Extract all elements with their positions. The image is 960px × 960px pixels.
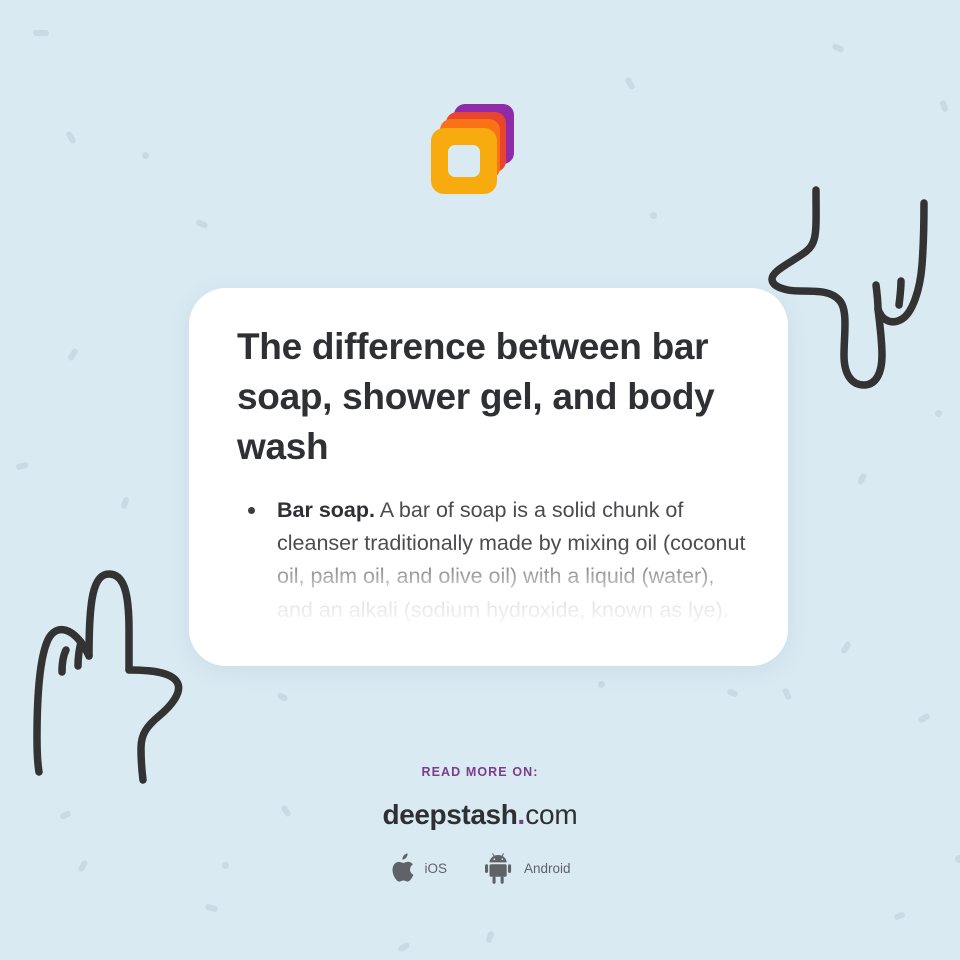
confetti-speck: [650, 212, 657, 219]
hand-pointing-up-icon: [25, 560, 205, 785]
brand-name: deepstash: [383, 799, 518, 830]
android-label: Android: [524, 861, 571, 876]
ios-badge[interactable]: iOS: [389, 853, 447, 884]
list-item: Bar soap. A bar of soap is a solid chunk…: [237, 494, 754, 661]
confetti-speck: [840, 640, 852, 654]
confetti-speck: [782, 687, 793, 700]
confetti-speck: [276, 692, 289, 703]
confetti-speck: [857, 472, 868, 485]
confetti-speck: [485, 930, 494, 943]
card-inner: The difference between bar soap, shower …: [189, 288, 788, 660]
confetti-speck: [120, 496, 130, 509]
idea-bullet-list: Bar soap. A bar of soap is a solid chunk…: [237, 494, 754, 661]
confetti-speck: [142, 152, 149, 159]
content-card: The difference between bar soap, shower …: [189, 288, 788, 666]
bullet-dot-icon: [248, 507, 255, 514]
android-icon: [485, 853, 515, 884]
brand-tld: com: [525, 799, 577, 830]
confetti-speck: [15, 462, 28, 471]
ios-label: iOS: [424, 861, 447, 876]
confetti-speck: [726, 688, 738, 698]
bullet-lead-text: Bar soap.: [277, 498, 375, 522]
confetti-speck: [831, 43, 844, 54]
app-store-badges: iOS Android: [0, 853, 960, 884]
confetti-speck: [598, 681, 605, 688]
confetti-speck: [624, 76, 636, 90]
footer: READ MORE ON: deepstash.com iOS: [0, 765, 960, 884]
page-title: The difference between bar soap, shower …: [237, 322, 754, 472]
confetti-speck: [67, 347, 79, 361]
bullet-paragraph: Bar soap. A bar of soap is a solid chunk…: [277, 494, 754, 661]
confetti-speck: [893, 911, 905, 920]
confetti-speck: [935, 410, 942, 417]
brand-wordmark: deepstash.com: [0, 799, 960, 831]
deepstash-logo: [431, 104, 515, 198]
confetti-speck: [917, 713, 930, 724]
android-badge[interactable]: Android: [485, 853, 571, 884]
confetti-speck: [397, 941, 410, 952]
confetti-speck: [65, 130, 77, 144]
confetti-speck: [195, 219, 208, 230]
read-more-label: READ MORE ON:: [0, 765, 960, 779]
confetti-speck: [939, 99, 949, 112]
logo-layer-amber: [431, 128, 497, 194]
confetti-speck: [33, 30, 49, 37]
confetti-speck: [204, 903, 218, 912]
apple-icon: [389, 853, 415, 884]
